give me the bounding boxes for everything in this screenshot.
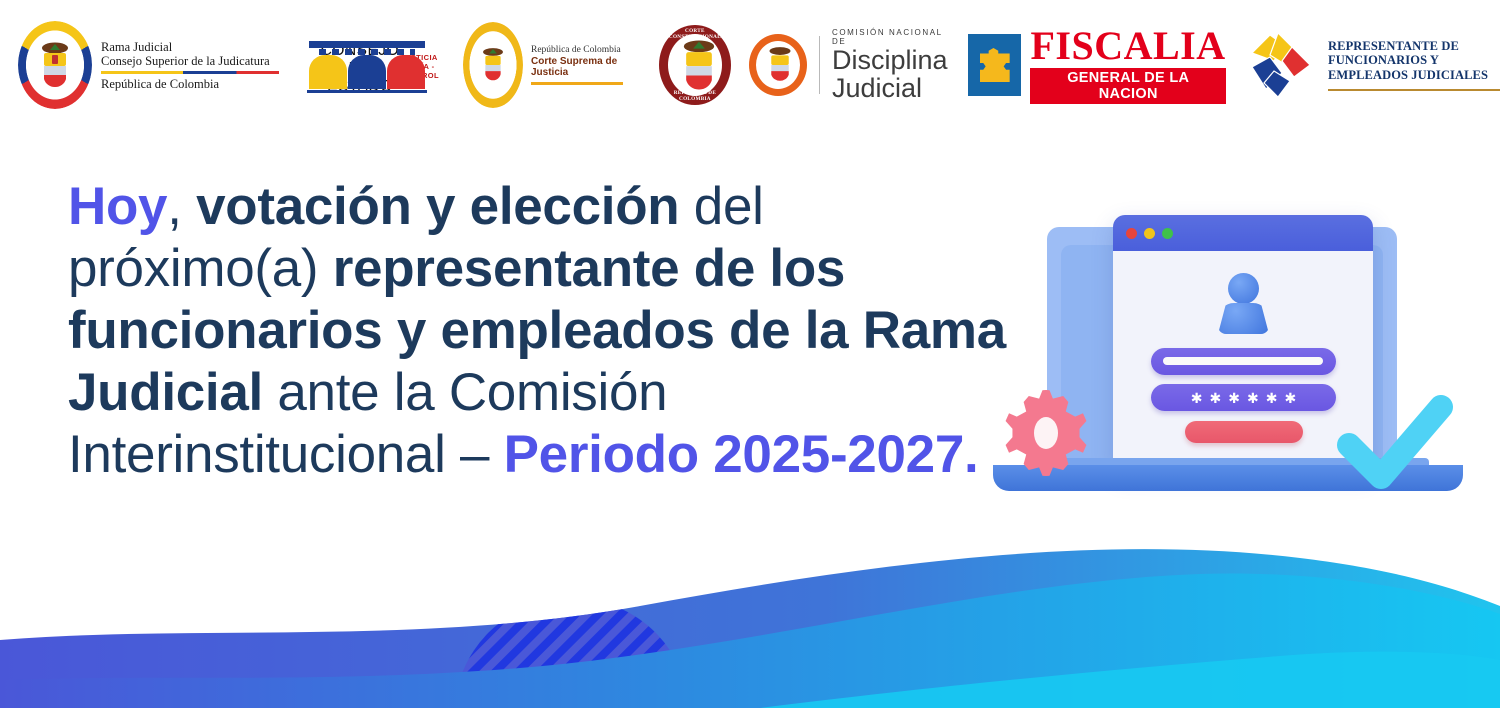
fiscalia-title: FISCALIA [1030, 27, 1226, 65]
traffic-light-green-icon [1162, 228, 1173, 239]
login-submit-button[interactable] [1185, 421, 1303, 443]
corte-suprema-de-justicia-logo: República de Colombia Corte Suprema de J… [463, 20, 637, 110]
rama-line-3: República de Colombia [101, 77, 279, 91]
representante-line-2: FUNCIONARIOS Y [1328, 53, 1500, 68]
consejo-building-icon [301, 41, 321, 89]
user-avatar-head-icon [1228, 273, 1259, 304]
password-mask-char: ✱ [1247, 391, 1259, 405]
password-mask-char: ✱ [1228, 391, 1240, 405]
institutional-logo-bar: Rama Judicial Consejo Superior de la Jud… [0, 0, 1500, 130]
disciplina-text: COMISIÓN NACIONAL DE Disciplina Judicial [832, 28, 952, 103]
fiscalia-general-de-la-nacion-logo: FISCALIA GENERAL DE LA NACION [968, 20, 1226, 110]
headline-segment-votacion: votación y elección [196, 177, 679, 236]
fiscalia-text: FISCALIA GENERAL DE LA NACION [1030, 27, 1226, 104]
disciplina-eyebrow: COMISIÓN NACIONAL DE [832, 28, 952, 46]
gold-rule [531, 82, 623, 85]
traffic-light-yellow-icon [1144, 228, 1155, 239]
corte-suprema-line-1: República de Colombia [531, 45, 637, 55]
four-hands-icon [1244, 27, 1318, 103]
fiscalia-subtitle: GENERAL DE LA NACION [1030, 68, 1226, 104]
disciplina-seal-icon [749, 34, 807, 96]
puzzle-piece-icon [968, 34, 1022, 96]
password-mask-char: ✱ [1284, 391, 1296, 405]
username-field[interactable] [1151, 348, 1336, 375]
headline-segment-hoy: Hoy [68, 177, 167, 236]
password-mask-char: ✱ [1266, 391, 1278, 405]
password-mask-char: ✱ [1191, 391, 1203, 405]
representante-line-1: REPRESENTANTE DE [1328, 39, 1500, 54]
user-avatar-body-icon [1218, 303, 1269, 334]
password-mask-char: ✱ [1210, 391, 1222, 405]
colombia-seal-icon [18, 21, 92, 109]
gear-icon [1003, 390, 1089, 476]
check-mark-icon [1335, 385, 1455, 495]
corte-suprema-text: República de Colombia Corte Suprema de J… [531, 45, 637, 85]
gold-rule [1328, 89, 1500, 92]
disciplina-line-1: Disciplina [832, 46, 952, 74]
browser-window: ✱ ✱ ✱ ✱ ✱ ✱ [1113, 215, 1373, 470]
corte-suprema-seal-icon [463, 22, 523, 108]
comision-nacional-disciplina-judicial-logo: COMISIÓN NACIONAL DE Disciplina Judicial [749, 20, 952, 110]
corte-constitucional-logo: CORTE CONSTITUCIONAL REPÚBLICA DE COLOMB… [659, 25, 731, 105]
browser-title-bar [1113, 215, 1373, 251]
tricolor-rule [101, 71, 279, 74]
password-field[interactable]: ✱ ✱ ✱ ✱ ✱ ✱ [1151, 384, 1336, 411]
corte-suprema-line-2: Corte Suprema de Justicia [531, 56, 637, 78]
rama-line-2: Consejo Superior de la Judicatura [101, 54, 279, 68]
traffic-light-red-icon [1126, 228, 1137, 239]
decorative-wave-footer [0, 528, 1500, 708]
rama-judicial-text: Rama Judicial Consejo Superior de la Jud… [101, 40, 279, 91]
rama-line-1: Rama Judicial [101, 40, 279, 54]
announcement-headline: Hoy, votación y elección del próximo(a) … [68, 176, 1028, 486]
representante-line-3: EMPLEADOS JUDICIALES [1328, 68, 1500, 83]
consejo-de-estado-logo: CONSEJO DE ESTADO JUSTICIA - GUÍA - CONT… [301, 20, 439, 110]
disciplina-line-2: Judicial [832, 74, 952, 102]
representante-text: REPRESENTANTE DE FUNCIONARIOS Y EMPLEADO… [1328, 39, 1500, 92]
representante-funcionarios-empleados-judiciales-logo: REPRESENTANTE DE FUNCIONARIOS Y EMPLEADO… [1244, 20, 1500, 110]
secure-login-illustration: ✱ ✱ ✱ ✱ ✱ ✱ [985, 215, 1485, 515]
rama-judicial-logo: Rama Judicial Consejo Superior de la Jud… [18, 20, 279, 110]
logo-divider [819, 36, 820, 94]
corte-constitucional-shield-icon [668, 34, 722, 96]
headline-segment-periodo: Periodo 2025-2027. [504, 425, 979, 484]
headline-segment-comma: , [167, 177, 196, 236]
